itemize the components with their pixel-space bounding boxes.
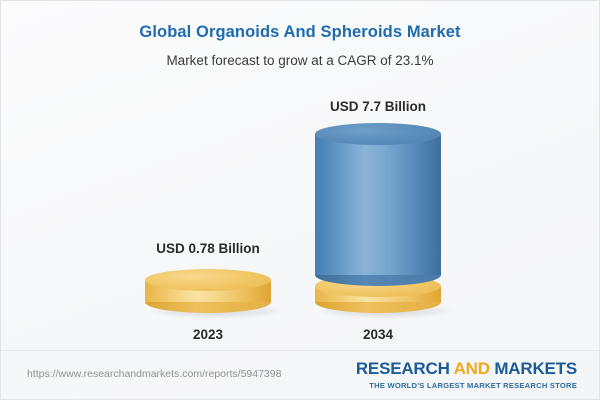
- chart-subtitle: Market forecast to grow at a CAGR of 23.…: [1, 53, 599, 68]
- category-label-2023: 2023: [123, 327, 293, 342]
- bar-group-2034: USD 7.7 Billion 2034: [293, 91, 463, 341]
- bar-value-label-2023: USD 0.78 Billion: [123, 241, 293, 256]
- report-url[interactable]: https://www.researchandmarkets.com/repor…: [27, 368, 281, 380]
- bar-segment-yellow: [145, 269, 271, 313]
- logo-tagline: THE WORLD'S LARGEST MARKET RESEARCH STOR…: [356, 381, 577, 390]
- cylinder-top-cap: [145, 269, 271, 291]
- logo-wordmark: RESEARCH AND MARKETS: [356, 360, 577, 378]
- logo-text-research: RESEARCH: [356, 359, 450, 378]
- chart-header: Global Organoids And Spheroids Market Ma…: [1, 1, 599, 68]
- cylinder-bar-2034[interactable]: [315, 123, 441, 313]
- logo-text-markets: MARKETS: [494, 359, 577, 378]
- cylinder-bar-2023[interactable]: [145, 269, 271, 313]
- chart-footer: https://www.researchandmarkets.com/repor…: [1, 350, 599, 399]
- category-label-2034: 2034: [293, 327, 463, 342]
- market-forecast-chart-card: Global Organoids And Spheroids Market Ma…: [0, 0, 600, 400]
- logo-text-and: AND: [454, 359, 490, 378]
- bar-segment-blue: [315, 123, 441, 286]
- chart-plot-area: USD 0.78 Billion 2023 USD 7.7 Billion: [1, 91, 599, 341]
- research-and-markets-logo[interactable]: RESEARCH AND MARKETS THE WORLD'S LARGEST…: [356, 360, 577, 390]
- chart-title: Global Organoids And Spheroids Market: [1, 23, 599, 42]
- cylinder-top-cap: [315, 123, 441, 145]
- cylinder-body: [315, 134, 441, 275]
- bar-value-label-2034: USD 7.7 Billion: [293, 99, 463, 114]
- bar-group-2023: USD 0.78 Billion 2023: [123, 91, 293, 341]
